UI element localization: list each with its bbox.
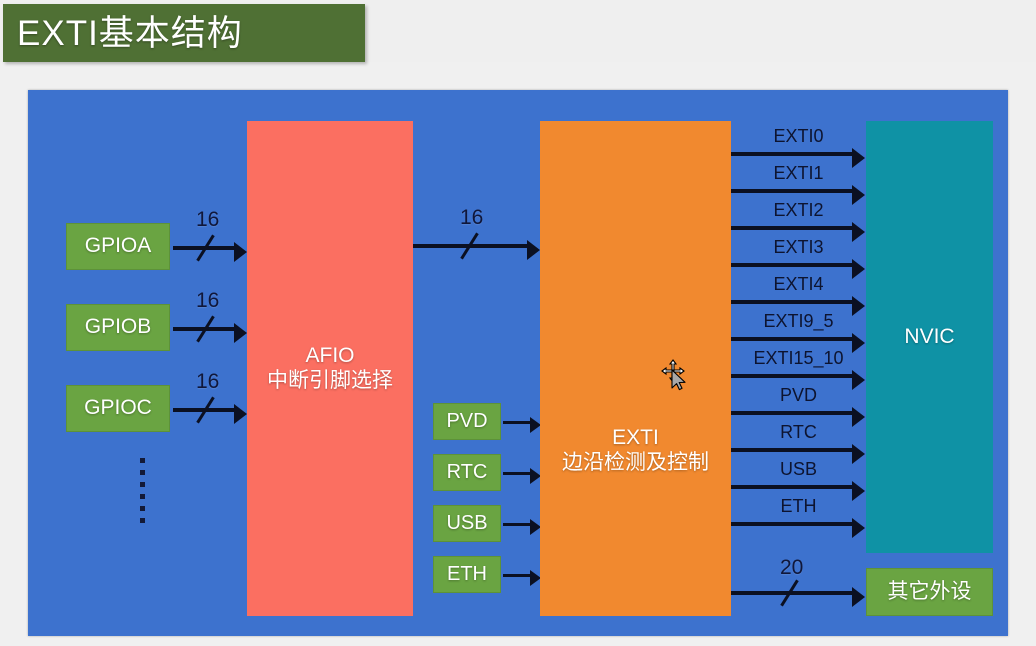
block-other-peripheral[interactable]: 其它外设 [866,568,993,616]
arrow-pvd-to-exti [503,421,531,424]
block-nvic[interactable]: NVIC [866,121,993,553]
signal-label-exti4: EXTI4 [731,274,866,295]
arrow-exti1-to-nvic [731,189,853,193]
block-input-pvd-label: PVD [446,410,487,434]
signal-label-exti3: EXTI3 [731,237,866,258]
signal-label-exti15-10: EXTI15_10 [731,348,866,369]
block-gpioc-label: GPIOC [84,396,152,421]
bus-width-gpiob: 16 [196,289,219,313]
arrow-pvd-to-nvic [731,411,853,415]
signal-label-exti9-5: EXTI9_5 [731,311,866,332]
page-title: EXTI基本结构 [3,16,243,51]
exti-structure-diagram: GPIOA GPIOB GPIOC 16 16 16 AFIO 中断引脚选择 1… [28,90,1008,636]
arrow-rtc-to-nvic [731,448,853,452]
block-exti[interactable]: EXTI 边沿检测及控制 [540,121,731,616]
block-gpiob-label: GPIOB [85,315,152,340]
arrow-exti2-to-nvic [731,226,853,230]
slide-title-banner: EXTI基本结构 [3,4,365,62]
block-gpioa[interactable]: GPIOA [66,223,170,270]
block-input-usb-label: USB [446,512,487,536]
block-input-eth-label: ETH [447,563,487,587]
signal-label-eth: ETH [731,496,866,517]
signal-label-rtc: RTC [731,422,866,443]
block-input-usb[interactable]: USB [433,505,501,542]
signal-label-exti1: EXTI1 [731,163,866,184]
block-afio-label-cn: 中断引脚选择 [267,369,393,394]
block-input-rtc-label: RTC [447,461,488,485]
arrow-usb-to-nvic [731,485,853,489]
block-nvic-label: NVIC [904,325,954,350]
block-exti-label-cn: 边沿检测及控制 [562,451,709,476]
bus-width-afio-exti: 16 [460,206,483,230]
bus-width-gpioc: 16 [196,370,219,394]
signal-label-pvd: PVD [731,385,866,406]
block-afio[interactable]: AFIO 中断引脚选择 [247,121,413,616]
arrow-rtc-to-exti [503,472,531,475]
arrow-exti0-to-nvic [731,152,853,156]
arrow-eth-to-exti [503,574,531,577]
signal-label-usb: USB [731,459,866,480]
arrow-exti3-to-nvic [731,263,853,267]
signal-label-exti2: EXTI2 [731,200,866,221]
block-input-rtc[interactable]: RTC [433,454,501,491]
arrow-exti4-to-nvic [731,300,853,304]
block-afio-label-en: AFIO [305,344,354,369]
block-gpioc[interactable]: GPIOC [66,385,170,432]
bus-width-gpioa: 16 [196,208,219,232]
block-gpioa-label: GPIOA [85,234,152,259]
bus-width-other-peripheral: 20 [780,556,803,580]
block-other-peripheral-label: 其它外设 [888,580,972,605]
gpio-ellipsis-icon [140,458,145,523]
arrow-exti9-5-to-nvic [731,337,853,341]
block-gpiob[interactable]: GPIOB [66,304,170,351]
arrow-exti15-10-to-nvic [731,374,853,378]
block-input-pvd[interactable]: PVD [433,403,501,440]
block-input-eth[interactable]: ETH [433,556,501,593]
arrow-usb-to-exti [503,523,531,526]
signal-label-exti0: EXTI0 [731,126,866,147]
arrow-eth-to-nvic [731,522,853,526]
block-exti-label-en: EXTI [562,426,709,451]
